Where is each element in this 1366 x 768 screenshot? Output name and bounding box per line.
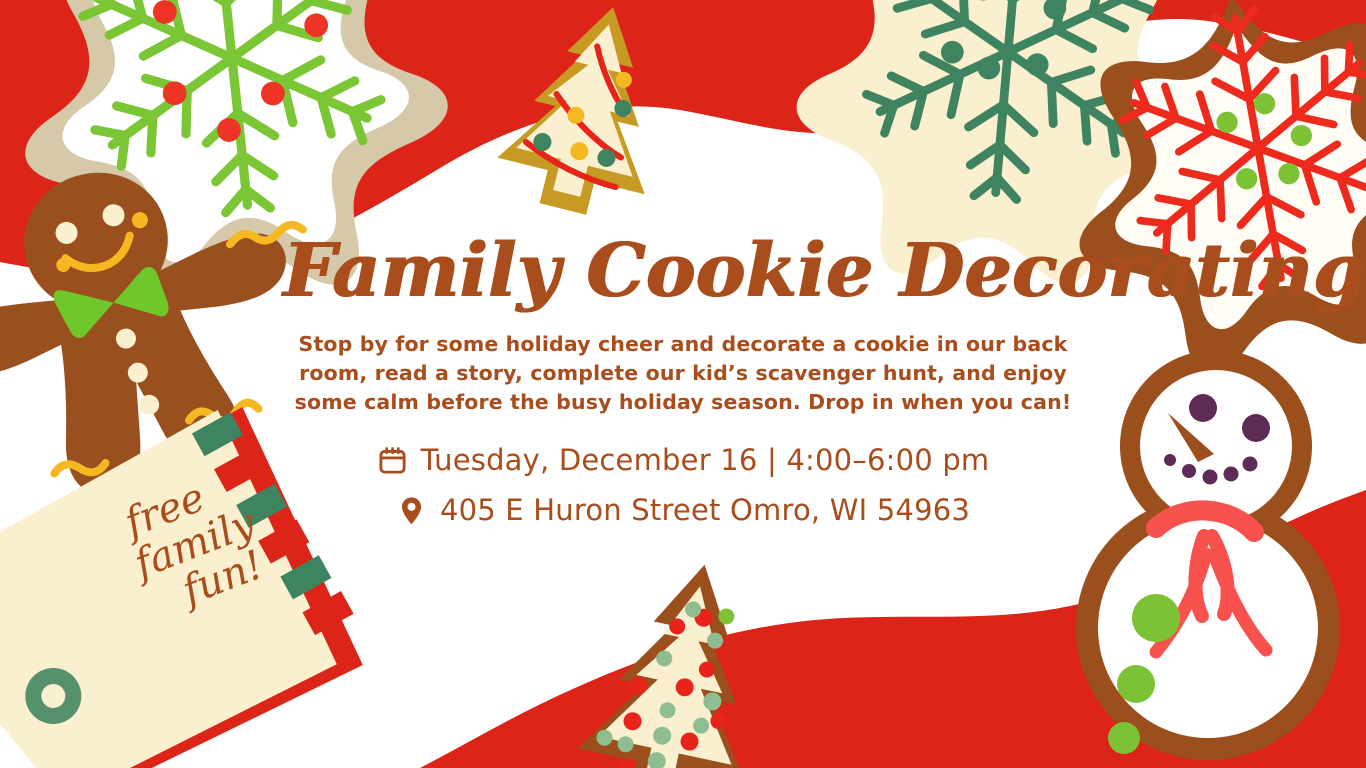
event-location-text: 405 E Huron Street Omro, WI 54963 bbox=[440, 493, 970, 527]
tree-cookie-bottom bbox=[568, 547, 789, 768]
event-location-row: 405 E Huron Street Omro, WI 54963 bbox=[283, 493, 1083, 527]
description-text: Stop by for some holiday cheer and decor… bbox=[292, 330, 1074, 417]
flyer-text-block: Family Cookie Decorating Stop by for som… bbox=[283, 234, 1083, 543]
event-date-text: Tuesday, December 16 | 4:00–6:00 pm bbox=[421, 443, 990, 477]
flyer-canvas: Family Cookie Decorating Stop by for som… bbox=[0, 0, 1366, 768]
event-details: Tuesday, December 16 | 4:00–6:00 pm 405 … bbox=[283, 443, 1083, 527]
event-date-row: Tuesday, December 16 | 4:00–6:00 pm bbox=[283, 443, 1083, 477]
tree-cookie-top bbox=[489, 0, 687, 227]
map-pin-icon bbox=[396, 495, 427, 526]
snowman-cookie bbox=[1076, 350, 1340, 760]
page-title: Family Cookie Decorating bbox=[283, 234, 1083, 308]
calendar-icon bbox=[377, 445, 408, 476]
